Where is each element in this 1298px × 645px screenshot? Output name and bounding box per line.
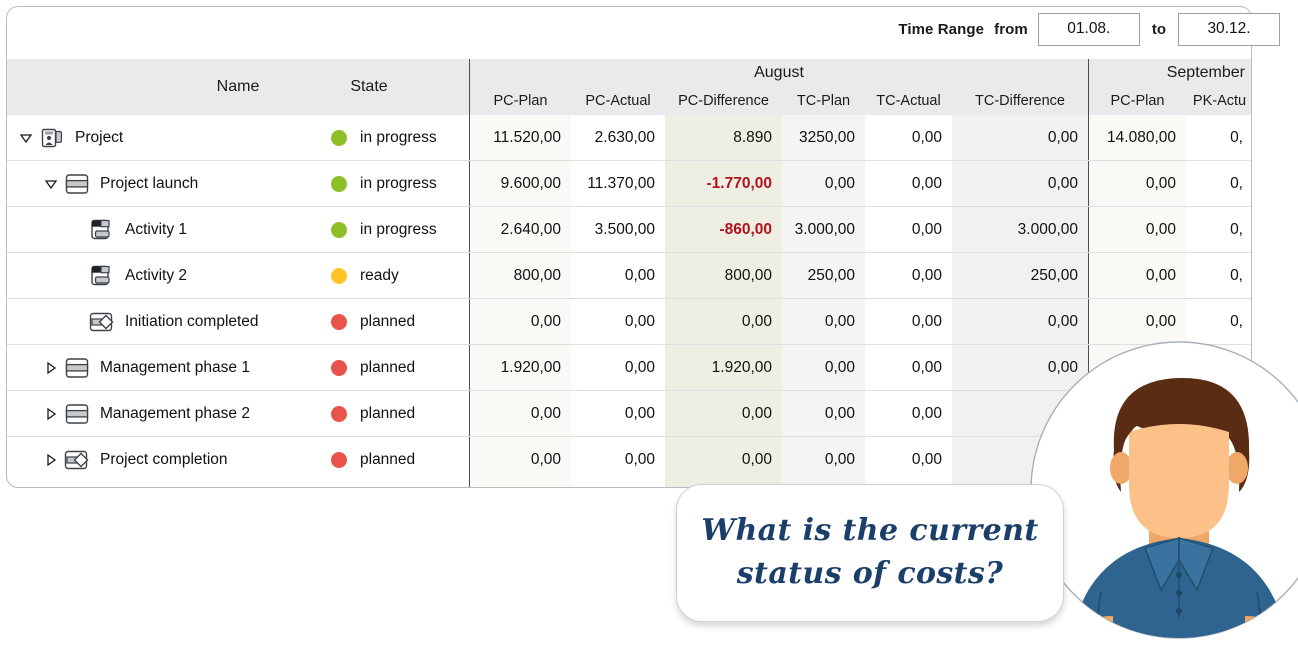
row-state-cell[interactable]: in progress (269, 161, 469, 206)
sub-column-header[interactable]: TC-Difference (952, 87, 1088, 115)
row-name-label: Initiation completed (117, 313, 259, 331)
row-value-cell[interactable]: 0,00 (782, 161, 865, 206)
phase-icon (62, 173, 92, 195)
row-state-label: planned (347, 405, 415, 423)
row-state-cell[interactable]: ready (269, 253, 469, 298)
row-value-cell[interactable]: 0, (1186, 299, 1252, 344)
milestone-icon (87, 311, 117, 333)
milestone-icon (62, 449, 92, 471)
time-range-control: Time Range from 01.08. to 30.12. (898, 10, 1280, 48)
row-value-cell[interactable]: 0,00 (865, 207, 952, 252)
activity-icon (87, 264, 117, 288)
status-dot-icon (331, 222, 347, 238)
row-value-cell[interactable]: 0,00 (782, 299, 865, 344)
sub-column-header[interactable]: PC-Plan (470, 87, 571, 115)
row-value-cell[interactable]: 14.080,00 (1089, 115, 1186, 160)
row-value-cell[interactable]: 0,00 (952, 115, 1088, 160)
row-name-cell[interactable]: Project completion (7, 437, 302, 482)
row-state-cell[interactable]: planned (269, 345, 469, 390)
table-row[interactable]: Activity 2ready800,000,00800,00250,000,0… (7, 252, 1251, 298)
row-value-cell[interactable]: 0,00 (571, 253, 665, 298)
row-value-cell[interactable]: 0,00 (1089, 161, 1186, 206)
row-value-cell[interactable]: 0, (1186, 207, 1252, 252)
activity-icon (87, 218, 117, 242)
row-value-cell[interactable]: 0,00 (571, 437, 665, 482)
status-dot-icon (331, 406, 347, 422)
row-state-label: planned (347, 359, 415, 377)
time-range-label: Time Range (898, 21, 984, 38)
row-value-cell[interactable]: 0,00 (470, 299, 571, 344)
time-range-to-input[interactable]: 30.12. (1178, 13, 1280, 46)
row-value-cell[interactable]: 3.000,00 (952, 207, 1088, 252)
row-value-cell[interactable]: 0, (1186, 115, 1252, 160)
row-name-cell[interactable]: Management phase 1 (7, 345, 302, 390)
row-state-label: in progress (347, 175, 437, 193)
chevron-right-icon[interactable] (40, 452, 62, 468)
row-value-cell[interactable]: 0,00 (865, 253, 952, 298)
row-value-cell[interactable]: 0,00 (665, 437, 782, 482)
row-state-label: ready (347, 267, 399, 285)
row-value-cell[interactable]: 0,00 (665, 391, 782, 436)
row-name-label: Project completion (92, 451, 228, 469)
chevron-down-icon[interactable] (40, 176, 62, 192)
row-value-cell[interactable]: 0,00 (865, 345, 952, 390)
row-value-cell[interactable]: 0,00 (865, 391, 952, 436)
row-value-cell[interactable]: 0, (1186, 253, 1252, 298)
row-value-cell[interactable]: 8.890 (665, 115, 782, 160)
status-dot-icon (331, 314, 347, 330)
row-name-label: Activity 1 (117, 221, 187, 239)
row-value-cell[interactable]: 1.920,00 (470, 345, 571, 390)
row-value-cell[interactable]: 0,00 (470, 437, 571, 482)
phase-icon (62, 357, 92, 379)
sub-column-header[interactable]: PK-Actu (1186, 87, 1252, 115)
row-value-cell[interactable]: 250,00 (782, 253, 865, 298)
status-dot-icon (331, 176, 347, 192)
row-name-label: Activity 2 (117, 267, 187, 285)
table-row[interactable]: Activity 1in progress2.640,003.500,00-86… (7, 206, 1251, 252)
row-value-cell[interactable]: 0,00 (665, 299, 782, 344)
phase-icon (62, 403, 92, 425)
row-name-label: Project (67, 129, 123, 147)
sub-column-header[interactable]: TC-Actual (865, 87, 952, 115)
row-value-cell[interactable]: -860,00 (665, 207, 782, 252)
speech-bubble: What is the current status of costs? (676, 484, 1064, 622)
row-value-cell[interactable]: 2.640,00 (470, 207, 571, 252)
row-value-cell[interactable]: 0,00 (1089, 253, 1186, 298)
row-value-cell[interactable]: 3250,00 (782, 115, 865, 160)
row-value-cell[interactable]: 0, (1186, 161, 1252, 206)
row-state-label: in progress (347, 221, 437, 239)
row-value-cell[interactable]: 3.500,00 (571, 207, 665, 252)
row-value-cell[interactable]: 3.000,00 (782, 207, 865, 252)
row-value-cell[interactable]: 800,00 (470, 253, 571, 298)
row-value-cell[interactable]: 0,00 (782, 345, 865, 390)
row-state-cell[interactable]: in progress (269, 207, 469, 252)
row-name-label: Management phase 2 (92, 405, 250, 423)
row-name-cell[interactable]: Project launch (7, 161, 302, 206)
row-value-cell[interactable]: 800,00 (665, 253, 782, 298)
row-value-cell[interactable]: 0,00 (865, 161, 952, 206)
row-value-cell[interactable]: 0,00 (865, 437, 952, 482)
row-state-label: planned (347, 313, 415, 331)
screen-root: Time Range from 01.08. to 30.12. Name St… (0, 0, 1298, 641)
row-value-cell[interactable]: 1.920,00 (665, 345, 782, 390)
project-icon (37, 126, 67, 150)
row-value-cell[interactable]: 0,00 (1089, 299, 1186, 344)
row-value-cell[interactable]: 0,00 (571, 391, 665, 436)
row-value-cell[interactable]: 250,00 (952, 253, 1088, 298)
table-row[interactable]: Projectin progress11.520,002.630,008.890… (7, 115, 1251, 160)
table-row[interactable]: Initiation completedplanned0,000,000,000… (7, 298, 1251, 344)
row-state-cell[interactable]: planned (269, 437, 469, 482)
row-value-cell[interactable]: 0,00 (571, 345, 665, 390)
row-value-cell[interactable]: 0,00 (470, 391, 571, 436)
row-value-cell[interactable]: 9.600,00 (470, 161, 571, 206)
row-name-cell[interactable]: Project (7, 115, 277, 160)
sub-column-header[interactable]: PC-Difference (665, 87, 782, 115)
status-dot-icon (331, 360, 347, 376)
row-name-label: Management phase 1 (92, 359, 250, 377)
chevron-right-icon[interactable] (40, 360, 62, 376)
row-state-cell[interactable]: planned (269, 391, 469, 436)
status-dot-icon (331, 452, 347, 468)
row-value-cell[interactable]: 0,00 (782, 437, 865, 482)
table-row[interactable]: Project launchin progress9.600,0011.370,… (7, 160, 1251, 206)
row-value-cell[interactable]: -1.770,00 (665, 161, 782, 206)
row-value-cell[interactable]: 0,00 (1089, 207, 1186, 252)
row-name-cell[interactable]: Management phase 2 (7, 391, 302, 436)
row-state-cell[interactable]: planned (269, 299, 469, 344)
row-value-cell[interactable]: 0,00 (782, 391, 865, 436)
row-state-cell[interactable]: in progress (269, 115, 469, 160)
speech-bubble-line-2: status of costs? (737, 553, 1003, 596)
row-value-cell[interactable]: 0,00 (865, 115, 952, 160)
time-range-from-label: from (994, 21, 1028, 38)
row-value-cell[interactable]: 2.630,00 (571, 115, 665, 160)
row-state-label: planned (347, 451, 415, 469)
sub-column-header[interactable]: TC-Plan (782, 87, 865, 115)
row-value-cell[interactable]: 11.370,00 (571, 161, 665, 206)
row-value-cell[interactable]: 0,00 (571, 299, 665, 344)
time-range-to-label: to (1150, 21, 1168, 38)
col-header-state[interactable]: State (269, 59, 469, 115)
avatar (1029, 340, 1298, 640)
sub-column-header[interactable]: PC-Actual (571, 87, 665, 115)
status-dot-icon (331, 268, 347, 284)
row-value-cell[interactable]: 0,00 (952, 299, 1088, 344)
time-range-from-input[interactable]: 01.08. (1038, 13, 1140, 46)
month-group-header: August (470, 59, 1088, 87)
speech-bubble-line-1: What is the current (701, 510, 1038, 553)
row-value-cell[interactable]: 0,00 (865, 299, 952, 344)
month-group-header: September (1089, 59, 1252, 87)
row-name-label: Project launch (92, 175, 198, 193)
chevron-right-icon[interactable] (40, 406, 62, 422)
row-state-label: in progress (347, 129, 437, 147)
row-value-cell[interactable]: 11.520,00 (470, 115, 571, 160)
status-dot-icon (331, 130, 347, 146)
chevron-down-icon[interactable] (15, 130, 37, 146)
sub-column-header[interactable]: PC-Plan (1089, 87, 1186, 115)
row-value-cell[interactable]: 0,00 (952, 161, 1088, 206)
